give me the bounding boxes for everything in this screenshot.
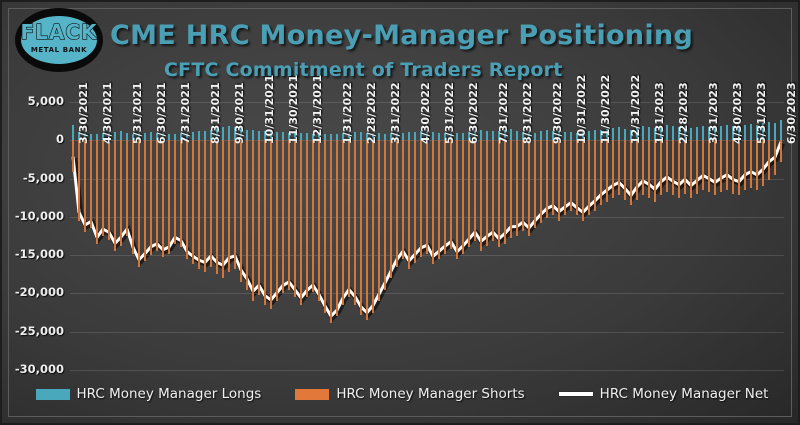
bar-short: [726, 140, 728, 190]
x-axis-tick-label: 6/30/2022: [467, 83, 480, 145]
x-axis-tick-label: 1/31/2022: [341, 83, 354, 145]
legend-label: HRC Money Manager Net: [600, 386, 769, 402]
bar-short: [228, 140, 230, 272]
bar-short: [648, 140, 650, 197]
bar-long: [306, 133, 308, 140]
bar-long: [768, 122, 770, 140]
y-axis-tick-label: -30,000: [15, 362, 64, 376]
bar-long: [510, 129, 512, 140]
bar-short: [360, 140, 362, 315]
x-axis-tick-label: 8/31/2021: [209, 83, 222, 145]
bar-long: [594, 130, 596, 140]
bar-short: [636, 140, 638, 200]
bar-short: [762, 140, 764, 186]
bar-short: [684, 140, 686, 194]
bar-long: [726, 125, 728, 140]
bar-short: [432, 140, 434, 264]
bar-long: [462, 133, 464, 141]
bar-short: [528, 140, 530, 236]
x-axis-tick-label: 3/31/2022: [389, 83, 402, 145]
chart-subtitle: CFTC Commitment of Traders Report: [164, 59, 563, 81]
bar-short: [564, 140, 566, 215]
bar-short: [168, 140, 170, 253]
bar-short: [144, 140, 146, 261]
bar-short: [378, 140, 380, 301]
bar-long: [570, 132, 572, 140]
bar-short: [732, 140, 734, 194]
bar-short: [366, 140, 368, 320]
bar-short: [618, 140, 620, 195]
bar-short: [612, 140, 614, 197]
y-axis-tick-label: -5,000: [23, 171, 64, 185]
bar-long: [174, 134, 176, 140]
x-axis-tick-label: 1/31/2023: [653, 83, 666, 145]
bar-long: [360, 132, 362, 140]
bar-short: [438, 140, 440, 259]
bar-short: [162, 140, 164, 256]
bar-short: [348, 140, 350, 297]
bar-long: [642, 126, 644, 141]
bar-long: [720, 126, 722, 140]
bar-short: [138, 140, 140, 266]
bar-long: [480, 130, 482, 140]
bar-long: [150, 132, 152, 140]
bar-short: [666, 140, 668, 192]
bar-long: [408, 132, 410, 140]
bar-short: [474, 140, 476, 241]
bar-short: [594, 140, 596, 210]
bar-short: [504, 140, 506, 243]
bar-short: [714, 140, 716, 195]
bar-short: [150, 140, 152, 255]
bar-short: [462, 140, 464, 253]
bar-long: [144, 133, 146, 141]
bar-long: [516, 131, 518, 141]
bar-short: [510, 140, 512, 238]
bar-short: [480, 140, 482, 251]
bar-short: [516, 140, 518, 236]
bar-short: [372, 140, 374, 312]
x-axis-tick-label: 4/30/2021: [101, 83, 114, 145]
bar-short: [672, 140, 674, 195]
bar-short: [108, 140, 110, 240]
bar-short: [186, 140, 188, 259]
bar-short: [720, 140, 722, 192]
bar-short: [324, 140, 326, 312]
gridline: [70, 332, 784, 333]
bar-short: [240, 140, 242, 282]
bar-long: [744, 125, 746, 140]
bar-long: [618, 127, 620, 140]
bar-long: [336, 134, 338, 140]
bar-short: [78, 140, 80, 220]
legend-swatch: [36, 389, 70, 400]
bar-short: [342, 140, 344, 305]
bar-short: [402, 140, 404, 259]
bar-short: [396, 140, 398, 266]
bar-short: [558, 140, 560, 220]
plot-area: 3/30/20214/30/20215/31/20216/30/20217/31…: [70, 102, 784, 370]
gridline: [70, 293, 784, 294]
x-axis-tick-label: 11/30/2022: [599, 75, 612, 144]
bar-short: [414, 140, 416, 263]
bar-short: [468, 140, 470, 247]
bar-long: [534, 133, 536, 141]
x-axis-tick-label: 7/31/2022: [497, 83, 510, 145]
bar-long: [126, 133, 128, 140]
legend-item[interactable]: HRC Money Manager Longs: [36, 386, 262, 402]
bar-long: [228, 126, 230, 140]
bar-long: [282, 132, 284, 140]
bar-long: [486, 131, 488, 141]
x-axis-tick-label: 5/31/2021: [131, 83, 144, 145]
x-axis-tick-label: 9/30/2022: [551, 83, 564, 145]
bar-long: [384, 134, 386, 141]
bar-long: [672, 126, 674, 140]
bar-short: [288, 140, 290, 289]
bar-short: [126, 140, 128, 236]
bar-long: [198, 131, 200, 140]
x-axis-tick-label: 11/30/2021: [287, 75, 300, 144]
bar-short: [696, 140, 698, 194]
bar-short: [660, 140, 662, 195]
bar-long: [114, 132, 116, 140]
bar-short: [84, 140, 86, 232]
legend-item[interactable]: HRC Money Manager Shorts: [295, 386, 524, 402]
chart-legend: HRC Money Manager LongsHRC Money Manager…: [2, 386, 800, 402]
bar-short: [708, 140, 710, 192]
bar-long: [192, 132, 194, 140]
bar-short: [630, 140, 632, 205]
gridline: [70, 255, 784, 256]
chart-screenshot: FLACK METAL BANK CME HRC Money-Manager P…: [0, 0, 800, 425]
bar-short: [90, 140, 92, 228]
bar-short: [750, 140, 752, 187]
bar-short: [390, 140, 392, 278]
x-axis-tick-label: 12/31/2022: [629, 75, 642, 144]
bar-long: [252, 130, 254, 140]
bar-long: [120, 131, 122, 140]
bar-long: [378, 133, 380, 140]
bar-long: [690, 128, 692, 140]
bar-short: [624, 140, 626, 200]
bar-short: [312, 140, 314, 292]
flack-metal-bank-logo: FLACK METAL BANK: [15, 8, 103, 72]
bar-short: [768, 140, 770, 180]
x-axis-tick-label: 6/30/2023: [785, 83, 798, 145]
gridline: [70, 370, 784, 371]
bar-short: [120, 140, 122, 246]
bar-long: [624, 129, 626, 140]
bar-long: [780, 120, 782, 140]
bar-short: [450, 140, 452, 249]
bar-short: [192, 140, 194, 264]
bar-long: [96, 134, 98, 140]
legend-label: HRC Money Manager Shorts: [336, 386, 524, 402]
bar-short: [534, 140, 536, 228]
bar-long: [750, 124, 752, 140]
bar-long: [168, 134, 170, 141]
bar-short: [270, 140, 272, 308]
bar-short: [678, 140, 680, 197]
bar-short: [600, 140, 602, 205]
bar-long: [564, 132, 566, 140]
bar-short: [738, 140, 740, 195]
legend-label: HRC Money Manager Longs: [77, 386, 262, 402]
bar-short: [282, 140, 284, 293]
bar-long: [432, 132, 434, 140]
bar-long: [276, 132, 278, 140]
legend-swatch: [295, 389, 329, 400]
bar-short: [222, 140, 224, 278]
bar-short: [408, 140, 410, 269]
legend-swatch: [559, 392, 593, 396]
bar-long: [774, 123, 776, 141]
y-axis-tick-label: 5,000: [28, 94, 64, 108]
bar-short: [300, 140, 302, 305]
bar-long: [90, 134, 92, 141]
bar-short: [690, 140, 692, 197]
bar-short: [582, 140, 584, 220]
bar-short: [210, 140, 212, 266]
bar-long: [648, 127, 650, 140]
bar-long: [540, 131, 542, 140]
bar-short: [540, 140, 542, 223]
bar-long: [354, 132, 356, 140]
y-axis-tick-label: 0: [56, 132, 64, 146]
bar-long: [588, 131, 590, 140]
bar-short: [522, 140, 524, 230]
bar-long: [696, 127, 698, 140]
bar-long: [324, 134, 326, 141]
bar-short: [570, 140, 572, 210]
x-axis-tick-label: 3/31/2023: [707, 83, 720, 145]
bar-long: [702, 126, 704, 141]
bar-short: [552, 140, 554, 215]
y-axis-tick-label: -15,000: [15, 247, 64, 261]
x-axis-tick-label: 4/30/2023: [731, 83, 744, 145]
bar-short: [198, 140, 200, 269]
bar-short: [264, 140, 266, 305]
bar-long: [666, 125, 668, 140]
bar-long: [330, 134, 332, 140]
bar-short: [780, 140, 782, 161]
bar-long: [402, 133, 404, 141]
x-axis-tick-label: 5/31/2023: [755, 83, 768, 145]
bar-long: [72, 125, 74, 141]
x-axis-tick-label: 12/31/2021: [311, 75, 324, 144]
bar-long: [246, 130, 248, 141]
y-axis-tick-label: -10,000: [15, 209, 64, 223]
bar-short: [258, 140, 260, 295]
bar-short: [102, 140, 104, 236]
bar-short: [318, 140, 320, 301]
bar-short: [642, 140, 644, 195]
bar-short: [756, 140, 758, 190]
x-axis-tick-label: 2/28/2023: [677, 83, 690, 145]
bar-long: [456, 133, 458, 140]
bar-short: [456, 140, 458, 259]
bar-long: [546, 130, 548, 140]
logo-tagline: METAL BANK: [15, 46, 103, 54]
bar-short: [306, 140, 308, 297]
bar-short: [132, 140, 134, 253]
x-axis-tick-label: 5/31/2022: [443, 83, 456, 145]
x-axis-tick-label: 9/30/2021: [233, 83, 246, 145]
bar-short: [234, 140, 236, 269]
bar-short: [606, 140, 608, 201]
bar-long: [258, 131, 260, 141]
x-axis-tick-label: 8/31/2022: [521, 83, 534, 145]
bar-short: [426, 140, 428, 253]
bar-short: [774, 140, 776, 174]
bar-short: [114, 140, 116, 251]
bar-short: [546, 140, 548, 218]
bar-short: [156, 140, 158, 251]
x-axis-tick-label: 3/30/2021: [77, 83, 90, 145]
bar-short: [354, 140, 356, 305]
bar-short: [246, 140, 248, 289]
bar-short: [486, 140, 488, 246]
x-axis-tick-label: 4/30/2022: [419, 83, 432, 145]
bar-short: [276, 140, 278, 301]
bar-long: [222, 127, 224, 140]
logo-wordmark: FLACK: [15, 20, 103, 44]
bar-short: [330, 140, 332, 322]
bar-short: [204, 140, 206, 272]
chart-title: CME HRC Money-Manager Positioning: [110, 20, 693, 51]
bar-long: [204, 131, 206, 141]
bar-short: [492, 140, 494, 241]
bar-short: [654, 140, 656, 201]
y-axis-tick-label: -20,000: [15, 285, 64, 299]
x-axis-tick-label: 2/28/2022: [365, 83, 378, 145]
bar-short: [384, 140, 386, 289]
x-axis-tick-label: 10/31/2022: [575, 75, 588, 144]
bar-short: [96, 140, 98, 243]
bar-short: [744, 140, 746, 190]
bar-short: [576, 140, 578, 215]
bar-short: [180, 140, 182, 247]
bar-short: [174, 140, 176, 243]
x-axis-tick-label: 10/31/2021: [263, 75, 276, 144]
bar-short: [216, 140, 218, 274]
x-axis-tick-label: 6/30/2021: [155, 83, 168, 145]
x-axis-tick-label: 7/31/2021: [179, 83, 192, 145]
bar-short: [72, 140, 74, 172]
bar-short: [702, 140, 704, 190]
bar-long: [612, 128, 614, 140]
y-axis-tick-label: -25,000: [15, 324, 64, 338]
bar-short: [498, 140, 500, 247]
bar-long: [414, 132, 416, 140]
bar-short: [444, 140, 446, 253]
bar-short: [294, 140, 296, 297]
bar-short: [588, 140, 590, 215]
bar-long: [438, 133, 440, 141]
y-axis-labels: 5,0000-5,000-10,000-15,000-20,000-25,000…: [2, 102, 64, 370]
bar-short: [252, 140, 254, 301]
bar-long: [300, 133, 302, 140]
bar-long: [492, 131, 494, 140]
bar-short: [336, 140, 338, 316]
bar-short: [420, 140, 422, 256]
legend-item[interactable]: HRC Money Manager Net: [559, 386, 769, 402]
